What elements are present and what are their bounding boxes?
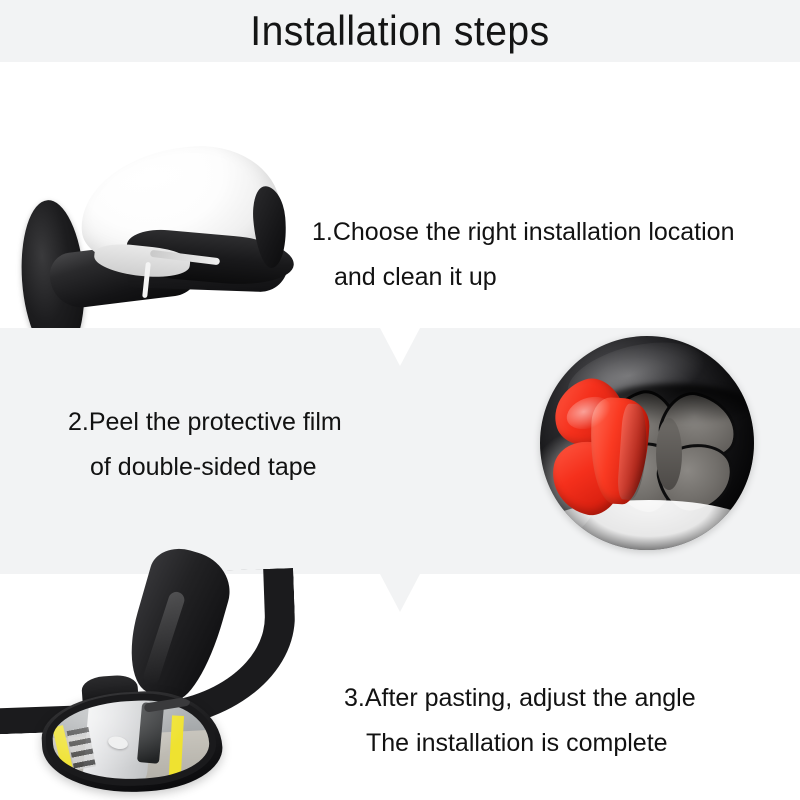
car-side-mirror-photo	[8, 142, 308, 328]
butterfly-body-shape	[656, 418, 682, 490]
step-1-text: 1.Choose the right installation location…	[312, 210, 735, 300]
step-2-line-1: 2.Peel the protective film	[68, 400, 342, 445]
step-3-line-1: 3.After pasting, adjust the angle	[344, 676, 696, 721]
mirror-back-disc-shape	[540, 336, 754, 550]
chevron-down-divider-icon-1	[380, 328, 420, 366]
page-title: Installation steps	[250, 10, 549, 52]
step-1-section: 1.Choose the right installation location…	[0, 62, 800, 328]
header-band: Installation steps	[0, 0, 800, 62]
step-2-line-2: of double-sided tape	[68, 445, 342, 490]
step-1-line-2: and clean it up	[312, 255, 735, 300]
installation-steps-infographic: Installation steps 1.Choose the right in…	[0, 0, 800, 800]
step-3-line-2: The installation is complete	[344, 721, 696, 766]
red-protective-film-shape	[550, 380, 654, 516]
step-2-text: 2.Peel the protective film of double-sid…	[68, 400, 342, 490]
step-3-text: 3.After pasting, adjust the angle The in…	[344, 676, 696, 766]
blind-spot-mirror-photo	[0, 580, 346, 800]
chevron-down-divider-icon-2	[380, 574, 420, 612]
butterfly-adhesive-tape-photo	[498, 334, 790, 572]
step-1-line-1: 1.Choose the right installation location	[312, 210, 735, 255]
blind-spot-mirror-body-shape	[40, 687, 225, 796]
